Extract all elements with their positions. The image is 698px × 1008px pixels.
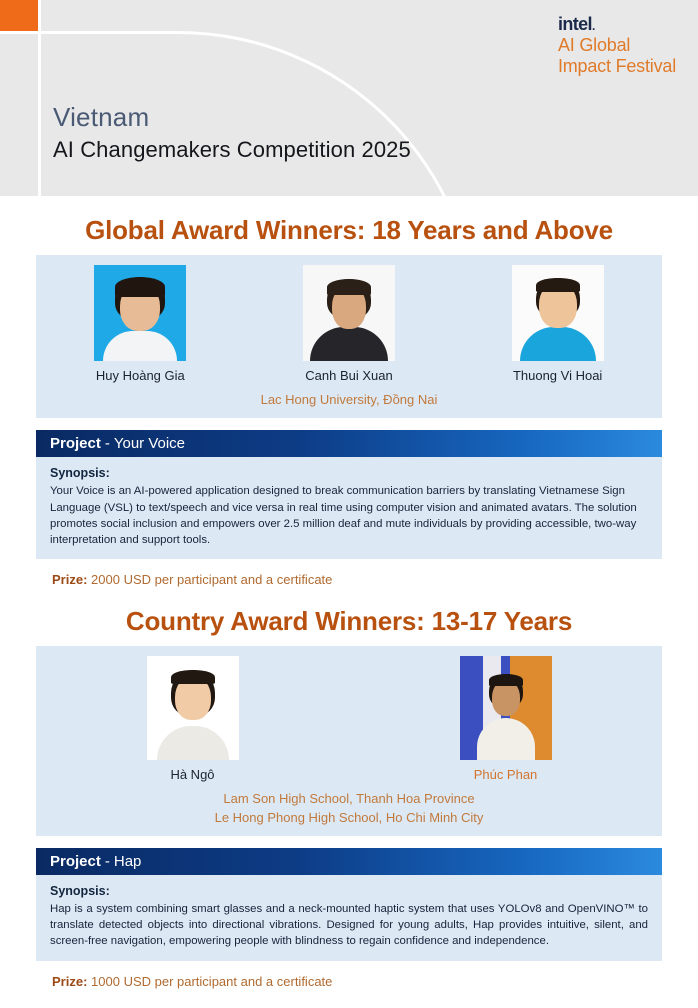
synopsis-block-country: Synopsis: Hap is a system combining smar… bbox=[36, 875, 662, 961]
synopsis-text: Your Voice is an AI-powered application … bbox=[50, 483, 648, 548]
project-dash: - bbox=[105, 435, 110, 452]
winner-entry: Canh Bui Xuan bbox=[246, 265, 453, 383]
school-line: Le Hong Phong High School, Ho Chi Minh C… bbox=[36, 809, 662, 827]
portrait-photo-5 bbox=[460, 656, 552, 760]
prize-line-global: Prize: 2000 USD per participant and a ce… bbox=[52, 572, 698, 587]
synopsis-block-global: Synopsis: Your Voice is an AI-powered ap… bbox=[36, 457, 662, 559]
section-title-global: Global Award Winners: 18 Years and Above bbox=[0, 215, 698, 246]
prize-line-country: Prize: 1000 USD per participant and a ce… bbox=[52, 974, 698, 989]
synopsis-label: Synopsis: bbox=[50, 884, 648, 898]
synopsis-label: Synopsis: bbox=[50, 466, 648, 480]
prize-label: Prize: bbox=[52, 572, 87, 587]
portrait-photo-4 bbox=[147, 656, 239, 760]
intel-ai-global-impact-festival-logo: intel. AI Global Impact Festival bbox=[558, 14, 676, 77]
synopsis-text: Hap is a system combining smart glasses … bbox=[50, 901, 648, 950]
winners-card-global: Huy Hoàng Gia Canh Bui Xuan bbox=[36, 255, 662, 418]
project-label: Project bbox=[50, 853, 101, 870]
school-line: Lac Hong University, Đồng Nai bbox=[36, 391, 662, 409]
project-label: Project bbox=[50, 435, 101, 452]
winner-name: Hà Ngô bbox=[36, 767, 349, 782]
prize-value: 1000 USD per participant and a certifica… bbox=[91, 974, 332, 989]
prize-label: Prize: bbox=[52, 974, 87, 989]
project-banner-country: Project - Hap bbox=[36, 848, 662, 875]
winner-name: Canh Bui Xuan bbox=[246, 368, 453, 383]
prize-value: 2000 USD per participant and a certifica… bbox=[91, 572, 332, 587]
project-dash: - bbox=[105, 853, 110, 870]
project-name: Hap bbox=[114, 853, 142, 870]
competition-subtitle: AI Changemakers Competition 2025 bbox=[53, 137, 411, 163]
winner-entry: Thuong Vi Hoai bbox=[454, 265, 661, 383]
project-banner-global: Project - Your Voice bbox=[36, 430, 662, 457]
page-title: Vietnam AI Changemakers Competition 2025 bbox=[53, 102, 411, 163]
header-top-rule bbox=[0, 31, 41, 34]
winners-card-country: Hà Ngô Phúc Phan Lam Son High School, Th… bbox=[36, 646, 662, 836]
award-section-country: Country Award Winners: 13-17 Years Hà Ng… bbox=[0, 606, 698, 988]
winners-row: Hà Ngô Phúc Phan bbox=[36, 656, 662, 782]
school-line: Lam Son High School, Thanh Hoa Province bbox=[36, 790, 662, 808]
portrait-photo-1 bbox=[94, 265, 186, 361]
winner-entry: Phúc Phan bbox=[349, 656, 662, 782]
winner-entry: Hà Ngô bbox=[36, 656, 349, 782]
section-title-country: Country Award Winners: 13-17 Years bbox=[0, 606, 698, 637]
page-header: intel. AI Global Impact Festival Vietnam… bbox=[0, 0, 698, 196]
logo-line-impact-festival: Impact Festival bbox=[558, 56, 676, 77]
logo-line-ai-global: AI Global bbox=[558, 35, 676, 56]
winner-name: Phúc Phan bbox=[349, 767, 662, 782]
winner-name: Thuong Vi Hoai bbox=[454, 368, 661, 383]
intel-wordmark: intel. bbox=[558, 14, 676, 35]
project-name: Your Voice bbox=[114, 435, 185, 452]
winners-row: Huy Hoàng Gia Canh Bui Xuan bbox=[36, 265, 662, 383]
winner-entry: Huy Hoàng Gia bbox=[37, 265, 244, 383]
orange-accent-block bbox=[0, 0, 38, 34]
country-name: Vietnam bbox=[53, 102, 411, 133]
portrait-photo-2 bbox=[303, 265, 395, 361]
portrait-photo-3 bbox=[512, 265, 604, 361]
winner-name: Huy Hoàng Gia bbox=[37, 368, 244, 383]
award-section-global: Global Award Winners: 18 Years and Above… bbox=[0, 215, 698, 587]
